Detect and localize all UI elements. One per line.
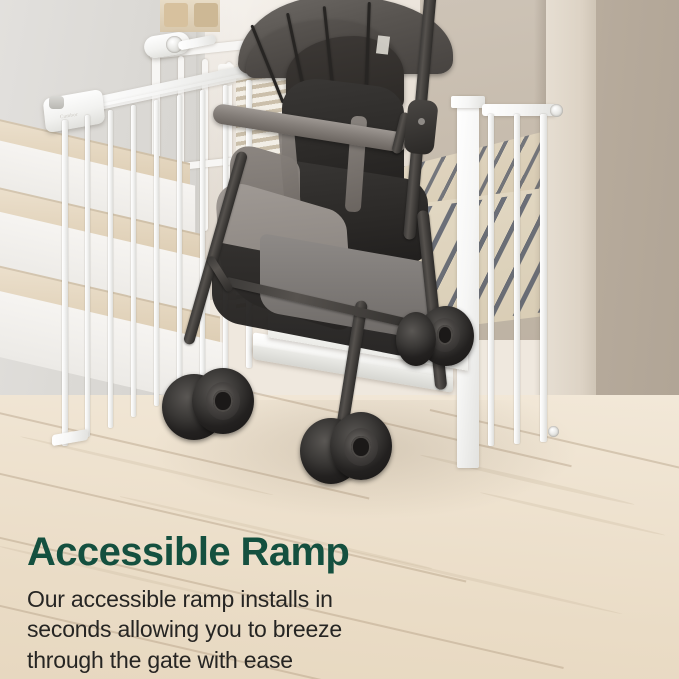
stroller-frame-hinge — [403, 99, 438, 156]
caption-line-2: seconds allowing you to breeze — [27, 614, 497, 644]
product-photo-scene: Cumbor — [0, 0, 679, 679]
canopy-label — [376, 35, 390, 54]
stroller-hinge-rivet — [418, 118, 425, 125]
stroller-wheel-rear-hub — [206, 382, 240, 420]
gate-tension-knob[interactable] — [550, 104, 563, 117]
gate-foot — [52, 429, 88, 446]
caption-line-3: through the gate with ease — [27, 645, 497, 675]
gate-bottom-knob[interactable] — [548, 426, 559, 437]
gate-latch-button[interactable] — [49, 96, 64, 109]
stroller-wheel-front-hub — [344, 428, 378, 466]
stroller-wheel-far-2 — [396, 312, 436, 366]
page-title: Accessible Ramp — [27, 532, 497, 572]
caption-body: Our accessible ramp installs in seconds … — [27, 584, 497, 675]
caption-block: Accessible Ramp Our accessible ramp inst… — [27, 532, 497, 675]
caption-line-1: Our accessible ramp installs in — [27, 584, 497, 614]
